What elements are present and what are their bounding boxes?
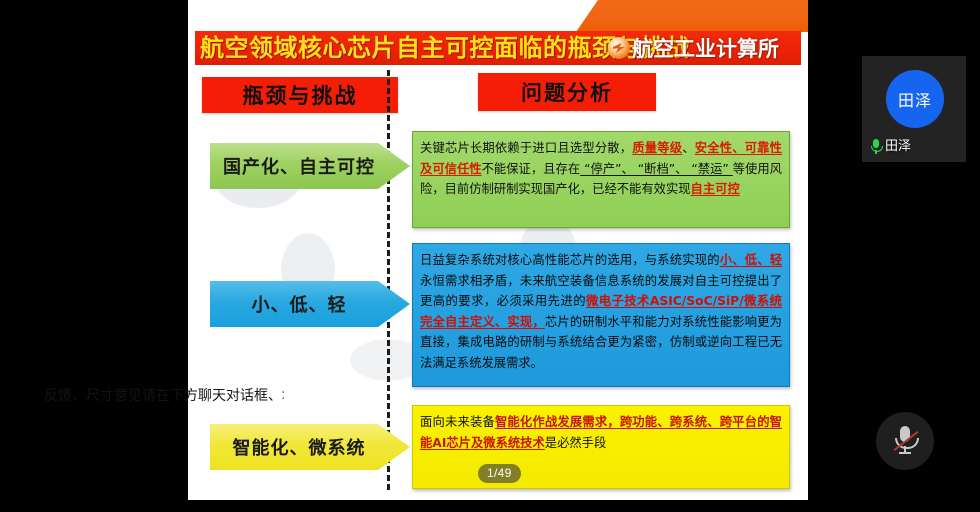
text-segment-0: 面向未来装备	[420, 415, 495, 429]
participant-video-tile[interactable]: 田泽 田泽	[862, 56, 966, 162]
text-segment-1: 小、低、轻	[720, 253, 782, 267]
flame-circle-logo-icon	[608, 37, 630, 59]
text-segment-5: “停产”、 “断档”、 “禁运”	[580, 162, 733, 176]
right-column-header: 问题分析	[478, 73, 656, 111]
left-column-header-label: 瓶颈与挑战	[243, 80, 358, 110]
column-divider	[387, 70, 390, 490]
topic-arrow-label-1: 小、低、轻	[252, 291, 347, 317]
chat-hint-overlay: 反馈、尺寸意见请在下方聊天对话框、填写	[44, 386, 284, 406]
topic-arrow-label-0: 国产化、自主可控	[223, 153, 375, 179]
topic-text-box-0: 关键芯片长期依赖于进口且选型分散，质量等级、安全性、可靠性及可信任性不能保证，且…	[412, 131, 790, 228]
participant-name: 田泽	[885, 139, 911, 154]
text-segment-2: 是必然手段	[545, 436, 607, 450]
organization-logo: 航空工业计算所	[608, 32, 779, 64]
page-indicator: 1/49	[478, 464, 521, 483]
topic-arrow-0: 国产化、自主可控	[210, 143, 410, 189]
organization-name: 航空工业计算所	[632, 33, 779, 63]
text-segment-1: 质量等级	[632, 141, 682, 155]
topic-text-box-2: 面向未来装备智能化作战发展需求，跨功能、跨系统、跨平台的智能AI芯片及微系统技术…	[412, 405, 790, 489]
right-column-header-label: 问题分析	[521, 77, 613, 107]
text-segment-0: 关键芯片长期依赖于进口且选型分散，	[420, 141, 632, 155]
presentation-slide[interactable]: 航空领域核心芯片自主可控面临的瓶颈与挑战 航空工业计算所 瓶颈与挑战 问题分析 …	[188, 0, 808, 500]
left-column-header: 瓶颈与挑战	[202, 77, 398, 113]
meeting-app-root: 航空领域核心芯片自主可控面临的瓶颈与挑战 航空工业计算所 瓶颈与挑战 问题分析 …	[0, 0, 980, 512]
microphone-muted-icon	[894, 426, 916, 456]
topic-text-box-1: 日益复杂系统对核心高性能芯片的选用，与系统实现的小、低、轻永恒需求相矛盾，未来航…	[412, 243, 790, 387]
topic-arrow-1: 小、低、轻	[210, 281, 410, 327]
topic-arrow-label-2: 智能化、微系统	[233, 434, 366, 460]
topic-arrow-2: 智能化、微系统	[210, 424, 410, 470]
avatar-initials: 田泽	[898, 87, 932, 111]
participant-name-row: 田泽	[870, 139, 911, 154]
text-segment-4: 不能保证，且存在	[482, 162, 581, 176]
orange-corner-banner	[576, 0, 808, 32]
text-segment-0: 日益复杂系统对核心高性能芯片的选用，与系统实现的	[420, 253, 720, 267]
mute-toggle-button[interactable]	[876, 412, 934, 470]
text-segment-2: 、	[682, 141, 695, 155]
microphone-on-icon	[870, 139, 882, 154]
text-segment-7: 自主可控	[691, 182, 740, 196]
avatar: 田泽	[886, 70, 944, 128]
